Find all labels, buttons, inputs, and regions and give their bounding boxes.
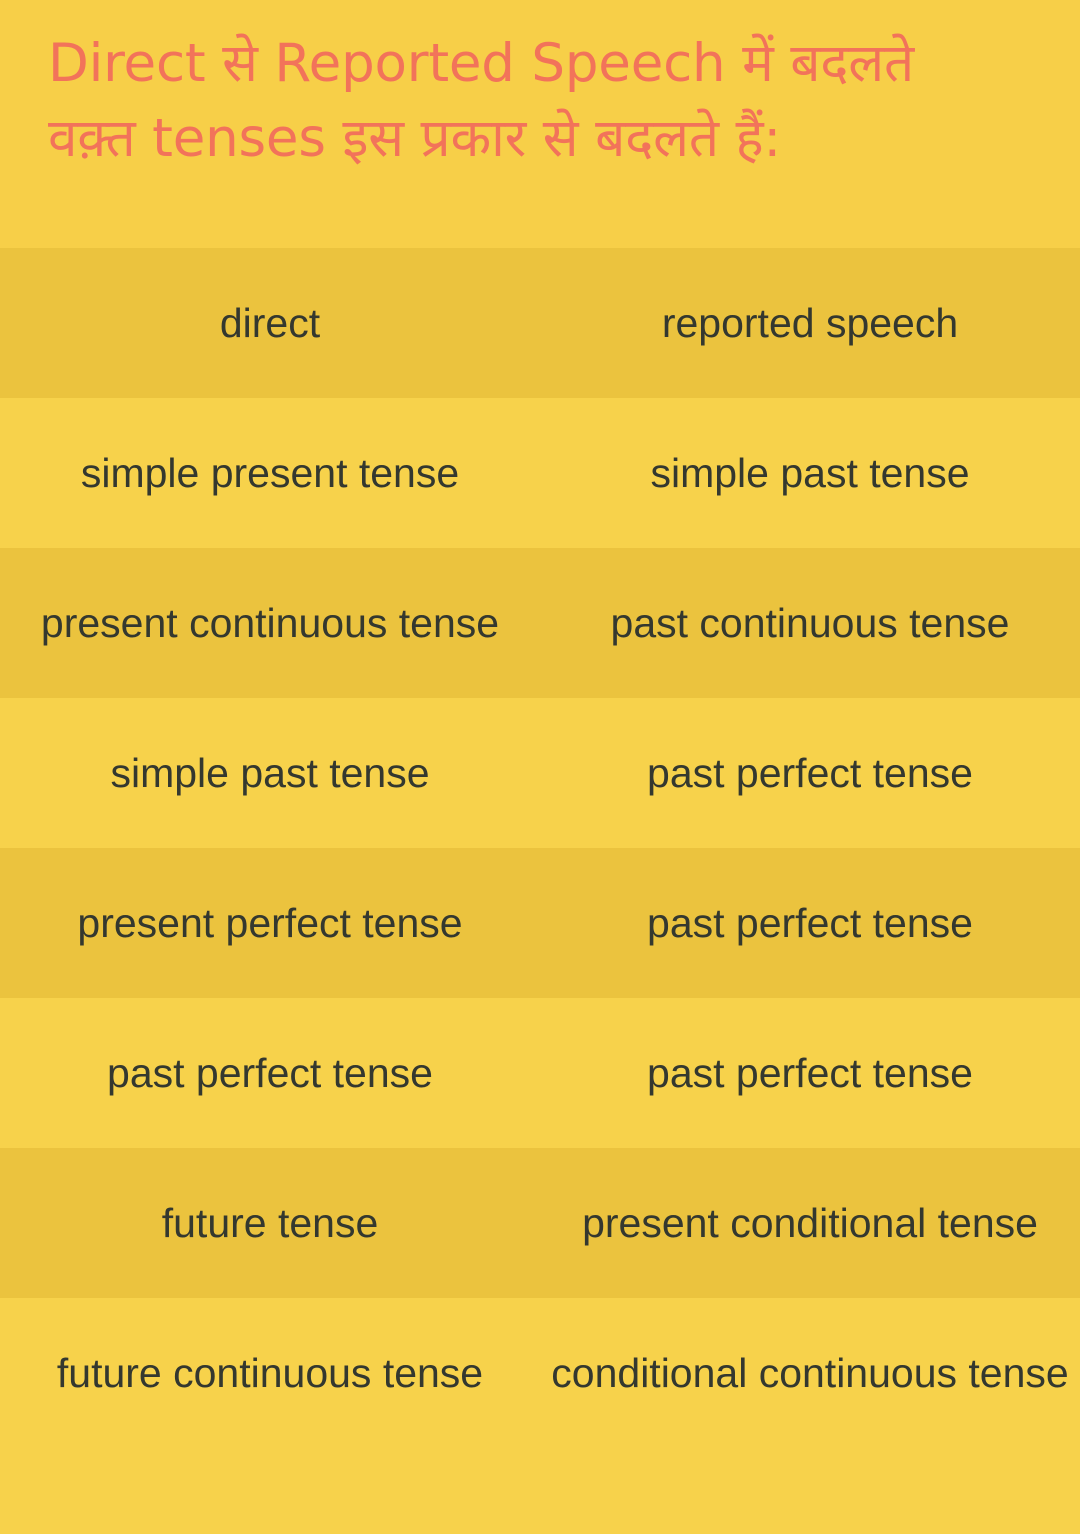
table-header-row: direct reported speech	[0, 248, 1080, 398]
table-row: future continuous tense conditional cont…	[0, 1298, 1080, 1448]
table-row: past perfect tense past perfect tense	[0, 998, 1080, 1148]
cell-direct: past perfect tense	[0, 998, 540, 1148]
table-row: simple present tense simple past tense	[0, 398, 1080, 548]
cell-reported: past perfect tense	[540, 998, 1080, 1148]
cell-direct: present continuous tense	[0, 548, 540, 698]
cell-reported: past continuous tense	[540, 548, 1080, 698]
title-line-1: Direct से Reported Speech में बदलते	[48, 33, 914, 94]
page-title: Direct से Reported Speech में बदलतेवक़्त…	[48, 26, 1040, 177]
cell-reported: past perfect tense	[540, 698, 1080, 848]
column-header-direct: direct	[0, 248, 540, 398]
cell-direct: simple past tense	[0, 698, 540, 848]
cell-reported: present conditional tense	[540, 1148, 1080, 1298]
page-root: Direct से Reported Speech में बदलतेवक़्त…	[0, 0, 1080, 1534]
cell-direct: simple present tense	[0, 398, 540, 548]
cell-direct: future tense	[0, 1148, 540, 1298]
tense-table-body: direct reported speech simple present te…	[0, 248, 1080, 1448]
cell-reported: simple past tense	[540, 398, 1080, 548]
table-row: future tense present conditional tense	[0, 1148, 1080, 1298]
tense-conversion-table: direct reported speech simple present te…	[0, 248, 1080, 1448]
cell-reported: past perfect tense	[540, 848, 1080, 998]
table-row: present perfect tense past perfect tense	[0, 848, 1080, 998]
title-line-2: वक़्त tenses इस प्रकार से बदलते हैं:	[48, 108, 781, 169]
cell-direct: future continuous tense	[0, 1298, 540, 1448]
title-band: Direct से Reported Speech में बदलतेवक़्त…	[0, 0, 1080, 248]
table-row: simple past tense past perfect tense	[0, 698, 1080, 848]
column-header-reported-speech: reported speech	[540, 248, 1080, 398]
cell-reported: conditional continuous tense	[540, 1298, 1080, 1448]
table-row: present continuous tense past continuous…	[0, 548, 1080, 698]
cell-direct: present perfect tense	[0, 848, 540, 998]
